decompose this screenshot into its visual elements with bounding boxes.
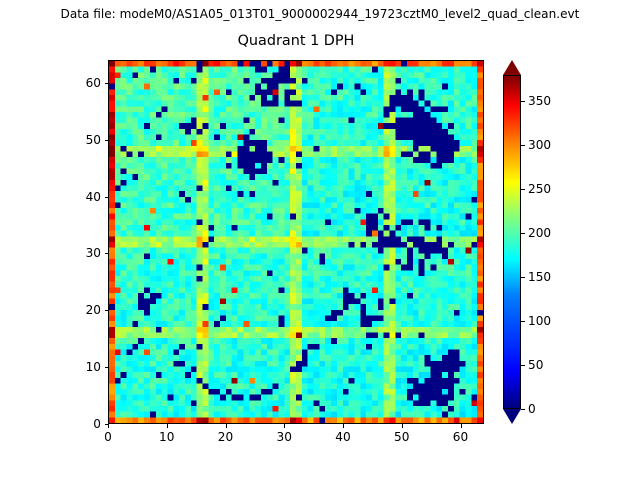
colorbar-tick-mark [521,189,525,190]
colorbar-tick-mark [521,365,525,366]
colorbar-tick-mark [521,233,525,234]
y-tick-label: 0 [68,417,101,431]
x-tick-label: 0 [104,430,112,444]
y-tick-label: 40 [68,190,101,204]
y-tick-mark [105,367,109,368]
x-tick-label: 60 [453,430,468,444]
y-tick-label: 10 [68,360,101,374]
x-tick-label: 20 [218,430,233,444]
y-tick-label: 60 [68,76,101,90]
y-tick-label: 20 [68,303,101,317]
y-tick-mark [105,140,109,141]
colorbar-tick-label: 50 [528,358,543,372]
x-tick-mark [461,424,462,428]
colorbar-tick-label: 100 [528,314,551,328]
matplotlib-figure: Data file: modeM0/AS1A05_013T01_90000029… [0,0,640,480]
colorbar-tick-label: 150 [528,270,551,284]
x-tick-label: 40 [335,430,350,444]
page-title: Quadrant 1 DPH [108,32,484,50]
x-tick-mark [108,424,109,428]
colorbar-tick-label: 300 [528,138,551,152]
colorbar-tick-label: 350 [528,94,551,108]
data-file-suptitle: Data file: modeM0/AS1A05_013T01_90000029… [0,6,640,22]
colorbar-extend-under-arrow [503,409,521,424]
colorbar-tick-label: 0 [528,402,536,416]
colorbar-tick-mark [521,277,525,278]
x-tick-label: 10 [159,430,174,444]
colorbar-tick-label: 200 [528,226,551,240]
colorbar-tick-mark [521,409,525,410]
x-tick-label: 30 [277,430,292,444]
y-tick-label: 50 [68,133,101,147]
x-tick-mark [226,424,227,428]
detector-pixel-heatmap [109,61,483,423]
y-tick-mark [105,310,109,311]
y-tick-mark [105,197,109,198]
x-tick-label: 50 [394,430,409,444]
heatmap-axes[interactable] [108,60,484,424]
x-tick-mark [402,424,403,428]
colorbar-extend-over-arrow [503,60,521,75]
x-tick-mark [167,424,168,428]
y-tick-label: 30 [68,246,101,260]
colorbar-gradient [503,75,521,409]
y-tick-mark [105,83,109,84]
x-tick-mark [343,424,344,428]
colorbar-tick-label: 250 [528,182,551,196]
colorbar[interactable]: 050100150200250300350 [503,60,521,424]
colorbar-tick-mark [521,145,525,146]
y-tick-mark [105,424,109,425]
colorbar-tick-mark [521,321,525,322]
x-tick-mark [284,424,285,428]
y-tick-mark [105,253,109,254]
colorbar-tick-mark [521,101,525,102]
